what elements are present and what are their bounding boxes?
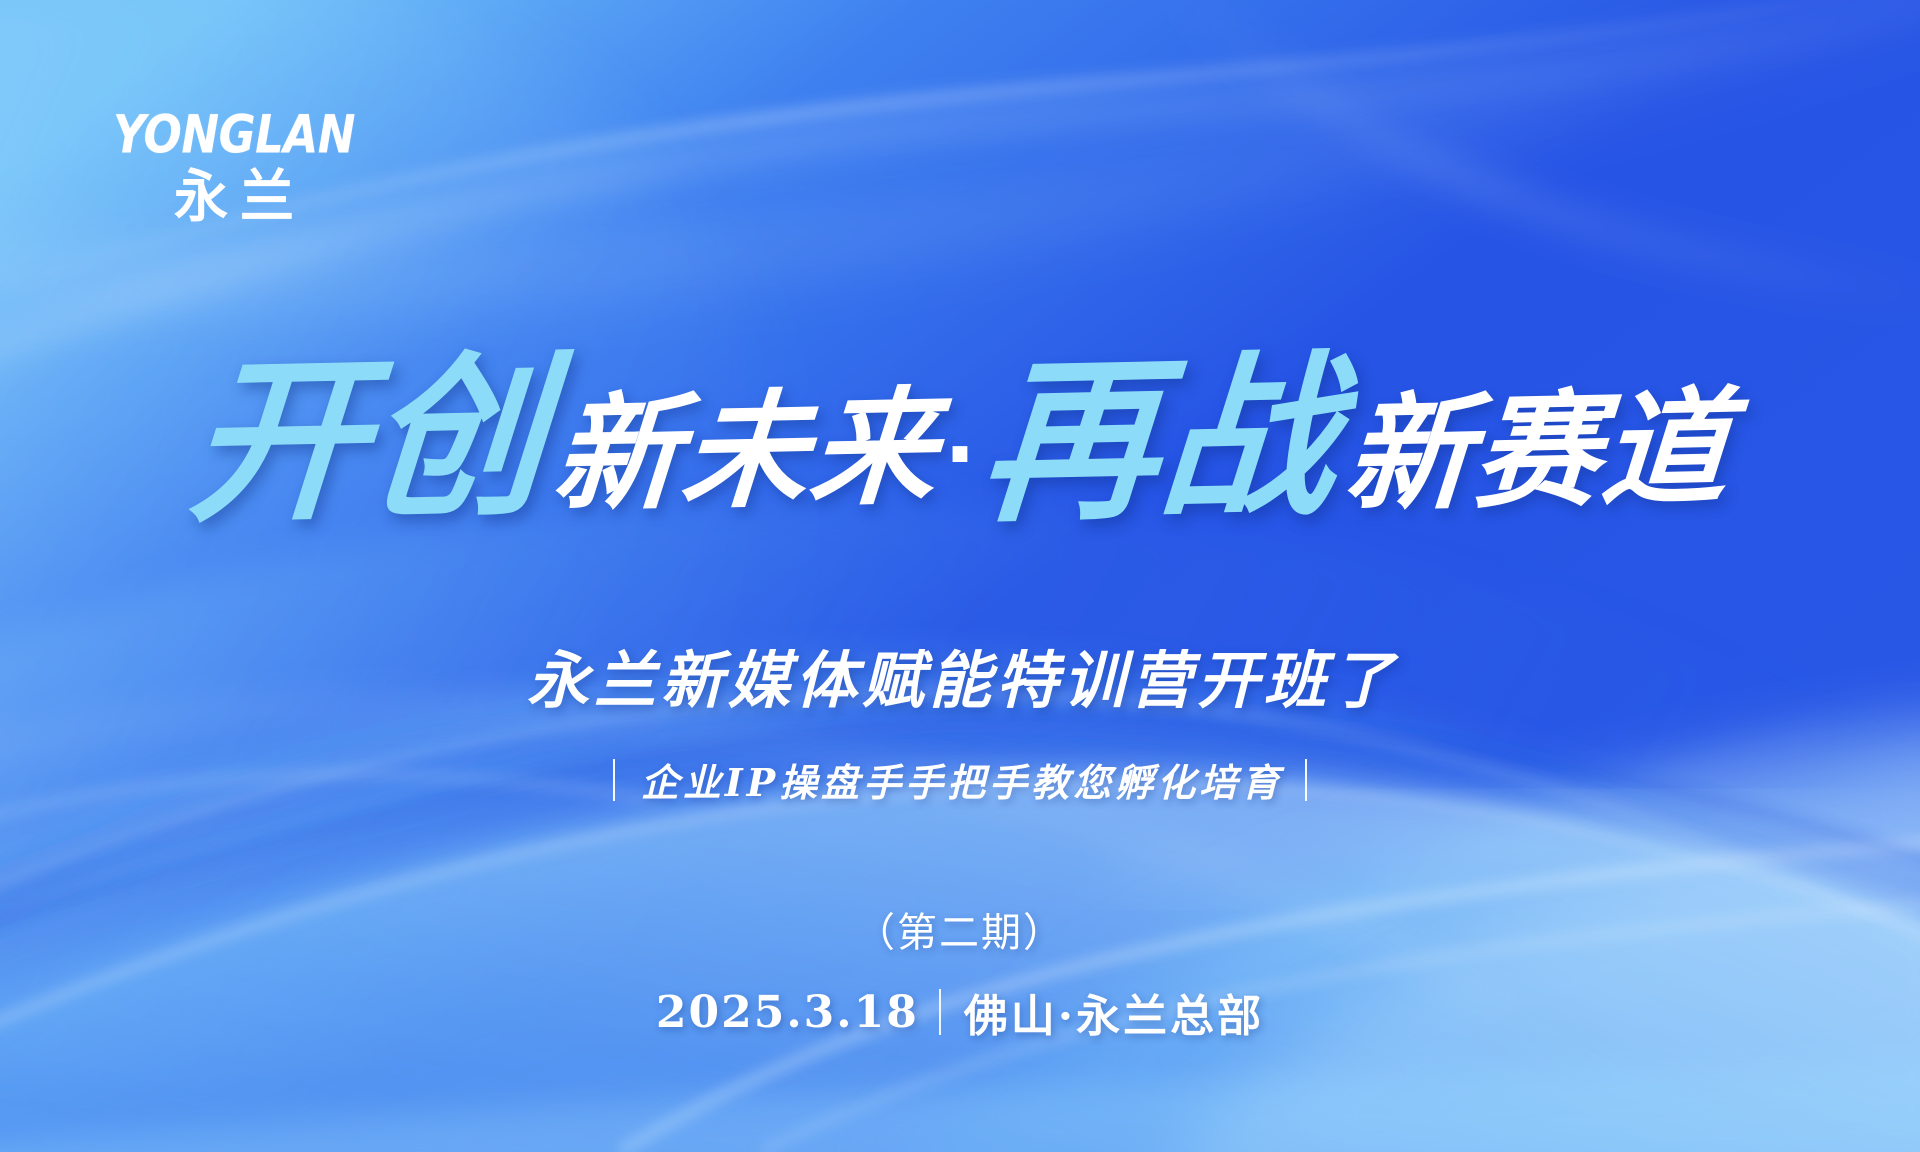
headline-segment-2: 新未来 bbox=[550, 384, 943, 518]
subtitle: 永兰新媒体赋能特训营开班了 bbox=[0, 630, 1920, 720]
session-label: （第二期） bbox=[0, 900, 1920, 958]
brand-logo-latin: YONGLAN bbox=[107, 108, 362, 160]
tagline-text: 企业IP操盘手手把手教您孵化培育 bbox=[637, 752, 1283, 807]
headline-segment-1: 开创 bbox=[184, 348, 552, 531]
tagline-left-rule bbox=[613, 759, 615, 801]
headline-segment-3: 再战 bbox=[976, 348, 1344, 531]
event-venue: 佛山·永兰总部 bbox=[961, 980, 1264, 1044]
headline-segment-4: 新赛道 bbox=[1341, 384, 1734, 518]
brand-logo: YONGLAN 永兰 bbox=[104, 108, 364, 224]
event-date: 2025.3.18 bbox=[656, 987, 919, 1038]
headline-separator-dot: · bbox=[944, 412, 976, 496]
headline: 开创新未来·再战新赛道 bbox=[0, 352, 1920, 528]
tagline: 企业IP操盘手手把手教您孵化培育 bbox=[0, 752, 1920, 807]
event-footer: 2025.3.18 佛山·永兰总部 bbox=[0, 980, 1920, 1044]
footer-separator bbox=[939, 989, 941, 1035]
event-poster: YONGLAN 永兰 开创新未来·再战新赛道 永兰新媒体赋能特训营开班了 企业I… bbox=[0, 0, 1920, 1152]
tagline-right-rule bbox=[1305, 759, 1307, 801]
brand-logo-cjk: 永兰 bbox=[104, 169, 364, 226]
